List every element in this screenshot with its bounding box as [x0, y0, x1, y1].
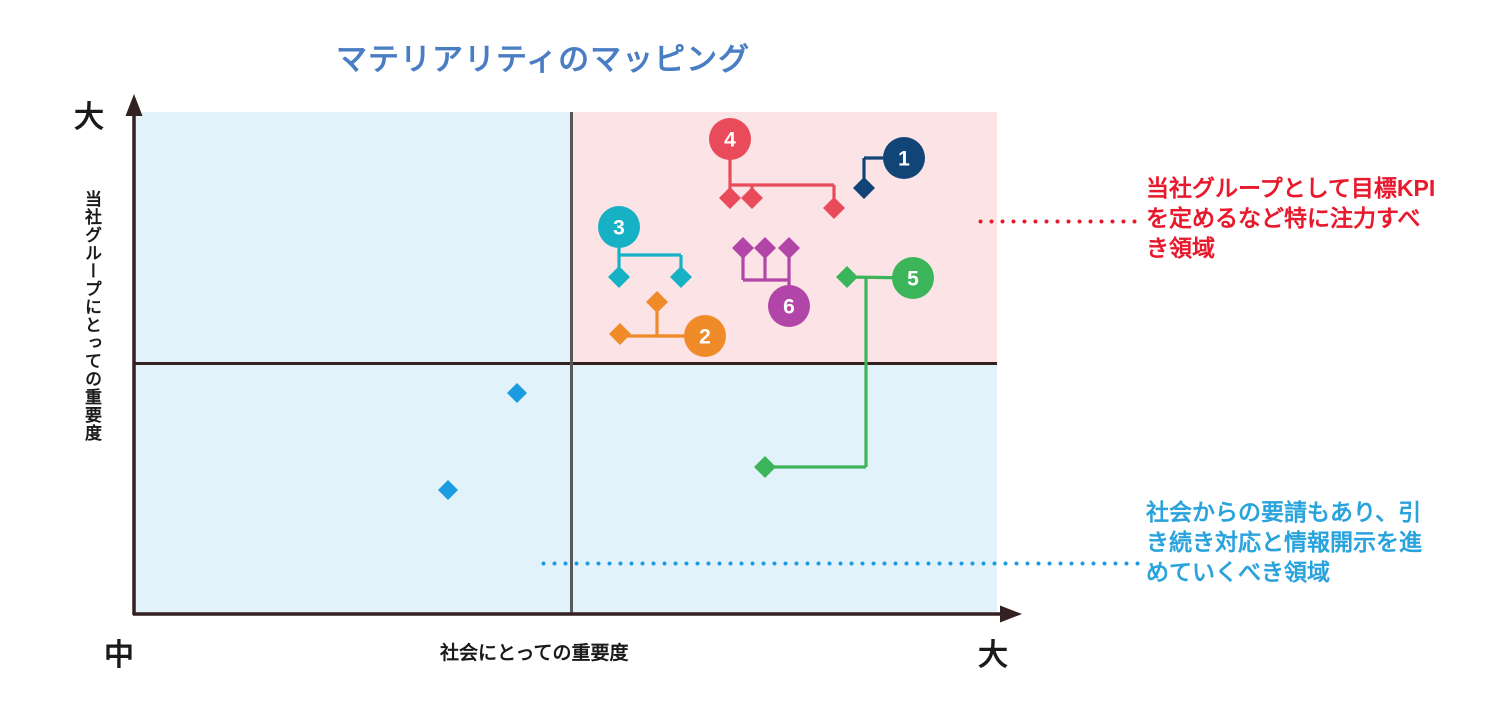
- data-series-layer: 123456: [133, 112, 1033, 632]
- data-point-4-0: [719, 187, 741, 209]
- materiality-mapping-chart: マテリアリティのマッピング 大 当社グループにとっての重要度 中 大 社会にとっ…: [0, 0, 1500, 708]
- data-point-2-0: [646, 291, 668, 313]
- series-group-unlabeled-low: [438, 383, 527, 500]
- data-point-1-0: [853, 177, 875, 199]
- data-point-4-2: [823, 197, 845, 219]
- data-point-6-0: [732, 237, 754, 259]
- series-badge-label-6: 6: [783, 296, 795, 319]
- callout-text-high-priority: 当社グループとして目標KPIを定めるなど特に注力すべき領域: [1146, 173, 1436, 263]
- data-point-x-0: [507, 383, 527, 403]
- data-point-6-2: [778, 237, 800, 259]
- series-group-2: 2: [609, 291, 726, 357]
- series-badge-label-5: 5: [907, 268, 919, 291]
- callout-text-ongoing: 社会からの要請もあり、引き続き対応と情報開示を進めていくべき領域: [1146, 497, 1436, 587]
- series-group-3: 3: [598, 206, 692, 288]
- callout-connector-red: [975, 219, 1143, 224]
- data-point-6-1: [754, 237, 776, 259]
- data-point-5-1: [754, 456, 776, 478]
- series-group-1: 1: [853, 137, 925, 199]
- data-point-2-1: [609, 323, 631, 345]
- series-badge-label-2: 2: [699, 326, 711, 349]
- series-badge-label-1: 1: [898, 148, 910, 171]
- callout-connector-blue: [538, 561, 1143, 566]
- data-point-3-0: [608, 266, 630, 288]
- series-badge-label-4: 4: [724, 129, 736, 152]
- data-point-5-0: [836, 266, 858, 288]
- series-group-6: 6: [732, 237, 810, 327]
- data-point-x-1: [438, 480, 458, 500]
- series-badge-label-3: 3: [613, 217, 625, 240]
- data-point-3-1: [670, 266, 692, 288]
- series-group-4: 4: [709, 118, 845, 219]
- data-point-4-1: [741, 187, 763, 209]
